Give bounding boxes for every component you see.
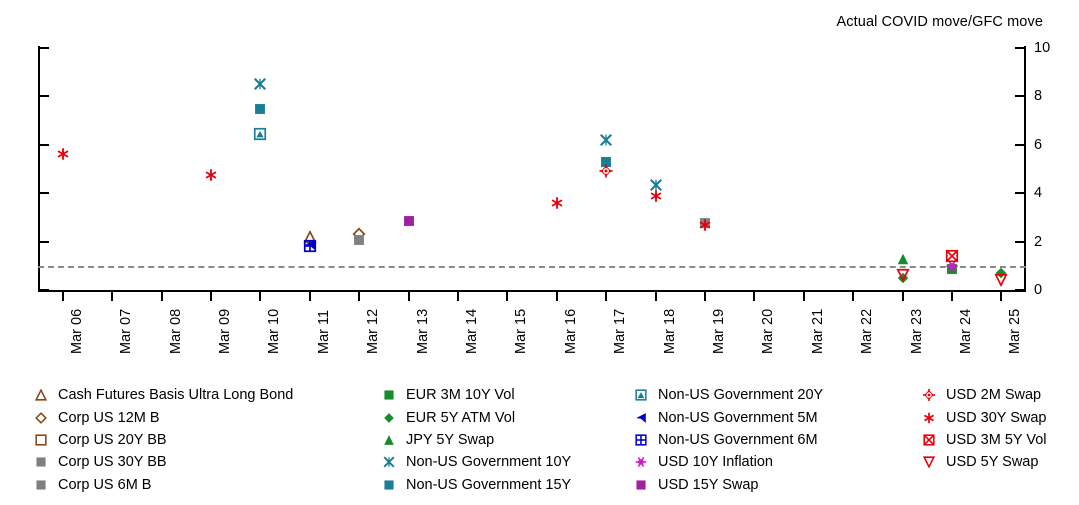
x-tick-label: Mar 06 — [69, 309, 85, 354]
legend-item-label: Non-US Government 20Y — [658, 387, 823, 403]
legend-item[interactable]: Corp US 20Y BB — [30, 429, 293, 451]
data-point — [600, 133, 613, 146]
y-tick-label: 0 — [1034, 282, 1042, 298]
x-tick — [62, 292, 64, 301]
y-tick-left — [40, 289, 49, 291]
x-tick-label: Mar 24 — [958, 309, 974, 354]
data-point — [254, 127, 267, 140]
legend-marker-icon — [918, 407, 940, 429]
x-tick-label: Mar 16 — [563, 309, 579, 354]
y-tick-label: 10 — [1034, 40, 1050, 56]
chart-title: Actual COVID move/GFC move — [837, 14, 1043, 30]
y-axis-left-spine — [38, 46, 40, 292]
legend-item[interactable]: Corp US 30Y BB — [30, 451, 293, 473]
data-point — [254, 78, 267, 91]
legend-marker-icon — [630, 474, 652, 496]
legend-item[interactable]: EUR 3M 10Y Vol — [378, 384, 571, 406]
x-tick-label: Mar 18 — [662, 309, 678, 354]
x-tick — [852, 292, 854, 301]
legend-item-label: USD 15Y Swap — [658, 477, 758, 493]
x-tick-label: Mar 21 — [810, 309, 826, 354]
legend-item[interactable]: Corp US 6M B — [30, 474, 293, 496]
data-point — [204, 169, 217, 182]
data-point — [896, 268, 909, 281]
x-tick-label: Mar 20 — [760, 309, 776, 354]
x-tick-label: Mar 22 — [859, 309, 875, 354]
data-point — [550, 196, 563, 209]
y-tick-left — [40, 95, 49, 97]
legend-item-label: Cash Futures Basis Ultra Long Bond — [58, 387, 293, 403]
legend-marker-icon — [918, 451, 940, 473]
legend-marker-icon — [630, 407, 652, 429]
x-tick-label: Mar 17 — [612, 309, 628, 354]
x-tick — [951, 292, 953, 301]
reference-line — [38, 266, 1026, 268]
legend-item-label: EUR 5Y ATM Vol — [406, 410, 515, 426]
data-point — [353, 234, 366, 247]
x-tick — [605, 292, 607, 301]
legend-item[interactable]: USD 3M 5Y Vol — [918, 429, 1046, 451]
y-tick-right — [1015, 289, 1024, 291]
legend-item-label: Corp US 20Y BB — [58, 432, 167, 448]
legend-item-label: Non-US Government 10Y — [406, 454, 571, 470]
x-tick-label: Mar 11 — [316, 310, 332, 354]
legend-item[interactable]: Cash Futures Basis Ultra Long Bond — [30, 384, 293, 406]
x-tick — [1000, 292, 1002, 301]
x-tick-label: Mar 23 — [909, 309, 925, 354]
x-tick — [111, 292, 113, 301]
legend-item-label: EUR 3M 10Y Vol — [406, 387, 515, 403]
data-point — [945, 250, 958, 263]
legend-marker-icon — [30, 384, 52, 406]
legend-item-label: USD 5Y Swap — [946, 454, 1038, 470]
y-tick-label: 8 — [1034, 88, 1042, 104]
y-tick-right — [1015, 192, 1024, 194]
legend-item[interactable]: USD 2M Swap — [918, 384, 1046, 406]
legend-item[interactable]: Non-US Government 6M — [630, 429, 823, 451]
x-tick — [309, 292, 311, 301]
legend-column-1: Cash Futures Basis Ultra Long BondCorp U… — [30, 384, 293, 496]
y-tick-right — [1015, 241, 1024, 243]
legend-item-label: JPY 5Y Swap — [406, 432, 494, 448]
legend-item[interactable]: Non-US Government 10Y — [378, 451, 571, 473]
x-tick-label: Mar 15 — [513, 309, 529, 354]
legend-item-label: Corp US 12M B — [58, 410, 160, 426]
data-point — [402, 215, 415, 228]
x-tick — [506, 292, 508, 301]
legend-marker-icon — [30, 474, 52, 496]
x-tick-label: Mar 19 — [711, 309, 727, 354]
x-tick — [408, 292, 410, 301]
x-tick — [803, 292, 805, 301]
data-point — [649, 189, 662, 202]
x-tick — [902, 292, 904, 301]
legend-marker-icon — [30, 429, 52, 451]
x-tick — [210, 292, 212, 301]
y-tick-left — [40, 47, 49, 49]
x-tick-label: Mar 13 — [415, 309, 431, 354]
y-tick-left — [40, 241, 49, 243]
legend-marker-icon — [630, 451, 652, 473]
legend-item[interactable]: EUR 5Y ATM Vol — [378, 406, 571, 428]
x-tick-label: Mar 10 — [266, 309, 282, 354]
legend-item[interactable]: Corp US 12M B — [30, 406, 293, 428]
legend-marker-icon — [30, 451, 52, 473]
data-point — [600, 165, 613, 178]
legend-marker-icon — [918, 429, 940, 451]
y-tick-left — [40, 144, 49, 146]
legend-item[interactable]: Non-US Government 15Y — [378, 474, 571, 496]
data-point — [698, 218, 711, 231]
legend-item[interactable]: USD 15Y Swap — [630, 474, 823, 496]
legend-marker-icon — [378, 451, 400, 473]
x-tick — [753, 292, 755, 301]
legend-marker-icon — [378, 384, 400, 406]
y-tick-right — [1015, 95, 1024, 97]
legend-marker-icon — [630, 429, 652, 451]
legend-item[interactable]: USD 5Y Swap — [918, 451, 1046, 473]
data-point — [303, 240, 316, 253]
legend-item-label: Corp US 30Y BB — [58, 454, 167, 470]
x-tick — [704, 292, 706, 301]
legend-marker-icon — [918, 384, 940, 406]
y-tick-label: 6 — [1034, 137, 1042, 153]
x-tick-label: Mar 08 — [168, 309, 184, 354]
legend-marker-icon — [30, 407, 52, 429]
plot-area — [38, 46, 1026, 292]
y-tick-right — [1015, 47, 1024, 49]
data-point — [56, 148, 69, 161]
x-tick — [457, 292, 459, 301]
x-tick — [556, 292, 558, 301]
data-point — [896, 252, 909, 265]
legend-item[interactable]: USD 10Y Inflation — [630, 451, 823, 473]
y-tick-label: 4 — [1034, 185, 1042, 201]
legend-column-2: EUR 3M 10Y VolEUR 5Y ATM VolJPY 5Y SwapN… — [378, 384, 571, 496]
legend-item-label: Non-US Government 6M — [658, 432, 818, 448]
x-tick-label: Mar 14 — [464, 309, 480, 354]
x-tick-label: Mar 07 — [118, 309, 134, 354]
legend-marker-icon — [378, 474, 400, 496]
legend-marker-icon — [378, 407, 400, 429]
x-tick — [161, 292, 163, 301]
chart-legend: Cash Futures Basis Ultra Long BondCorp U… — [30, 384, 1060, 496]
chart-root: Actual COVID move/GFC move 0246810 Mar 0… — [0, 0, 1079, 505]
legend-item-label: USD 3M 5Y Vol — [946, 432, 1046, 448]
x-tick-label: Mar 25 — [1007, 309, 1023, 354]
x-axis-spine — [38, 290, 1026, 292]
x-tick — [259, 292, 261, 301]
data-point — [254, 102, 267, 115]
x-tick — [358, 292, 360, 301]
data-point — [995, 274, 1008, 287]
legend-column-4: USD 2M SwapUSD 30Y SwapUSD 3M 5Y VolUSD … — [918, 384, 1046, 474]
y-tick-left — [40, 192, 49, 194]
legend-item-label: Non-US Government 15Y — [406, 477, 571, 493]
legend-item-label: Non-US Government 5M — [658, 410, 818, 426]
legend-item-label: Corp US 6M B — [58, 477, 151, 493]
legend-item[interactable]: JPY 5Y Swap — [378, 429, 571, 451]
x-tick-label: Mar 09 — [217, 309, 233, 354]
legend-item-label: USD 10Y Inflation — [658, 454, 773, 470]
legend-marker-icon — [630, 384, 652, 406]
y-axis-right-spine — [1024, 46, 1026, 292]
legend-item[interactable]: Non-US Government 20Y — [630, 384, 823, 406]
legend-column-3: Non-US Government 20YNon-US Government 5… — [630, 384, 823, 496]
legend-item[interactable]: USD 30Y Swap — [918, 406, 1046, 428]
x-tick — [655, 292, 657, 301]
y-tick-label: 2 — [1034, 234, 1042, 250]
legend-item[interactable]: Non-US Government 5M — [630, 406, 823, 428]
legend-item-label: USD 2M Swap — [946, 387, 1041, 403]
legend-item-label: USD 30Y Swap — [946, 410, 1046, 426]
y-tick-right — [1015, 144, 1024, 146]
legend-marker-icon — [378, 429, 400, 451]
x-tick-label: Mar 12 — [365, 309, 381, 354]
